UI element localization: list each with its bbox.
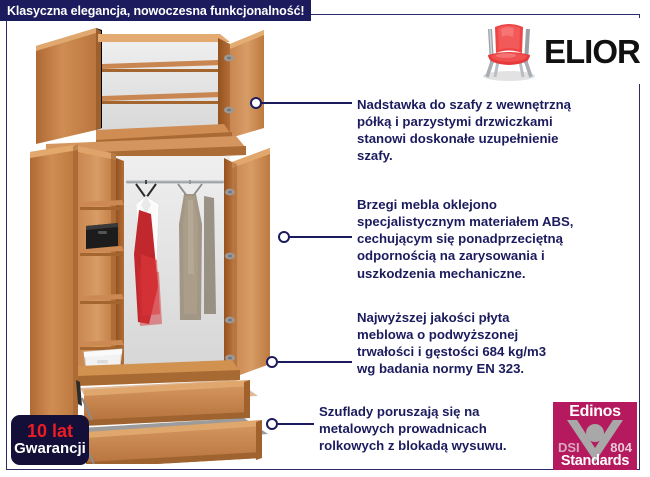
callout-text-4: Szuflady poruszają się na metalowych pro…	[319, 403, 569, 454]
callout-text-2: Brzegi mebla oklejono specjalistycznym m…	[357, 196, 645, 282]
callout-leader-3	[278, 361, 352, 363]
certificate-badge: Edinos DSI 804 Standards	[553, 402, 637, 470]
brand-logo: ELIOR	[478, 18, 644, 84]
callout-marker-3	[266, 356, 278, 368]
callout-leader-4	[278, 423, 314, 425]
warranty-years: 10 lat	[27, 422, 73, 440]
callout-marker-4	[266, 418, 278, 430]
callout-leader-1	[262, 102, 352, 104]
callout-text-1: Nadstawka do szafy z wewnętrzną półką i …	[357, 96, 642, 165]
brand-name: ELIOR	[544, 35, 640, 68]
banner-title: Klasyczna elegancja, nowoczesna funkcjon…	[0, 4, 304, 18]
callout-marker-1	[250, 97, 262, 109]
callout-marker-2	[278, 231, 290, 243]
product-image	[18, 24, 288, 464]
header-banner: Klasyczna elegancja, nowoczesna funkcjon…	[0, 0, 311, 21]
warranty-badge: 10 lat Gwarancji	[11, 415, 89, 465]
red-chair-icon	[478, 19, 540, 83]
storage-box-dark	[86, 223, 118, 249]
callout-leader-2	[290, 236, 352, 238]
certificate-label: Standards	[553, 453, 637, 469]
callout-text-3: Najwyższej jakości płyta meblowa o podwy…	[357, 309, 643, 378]
warranty-label: Gwarancji	[14, 441, 86, 458]
